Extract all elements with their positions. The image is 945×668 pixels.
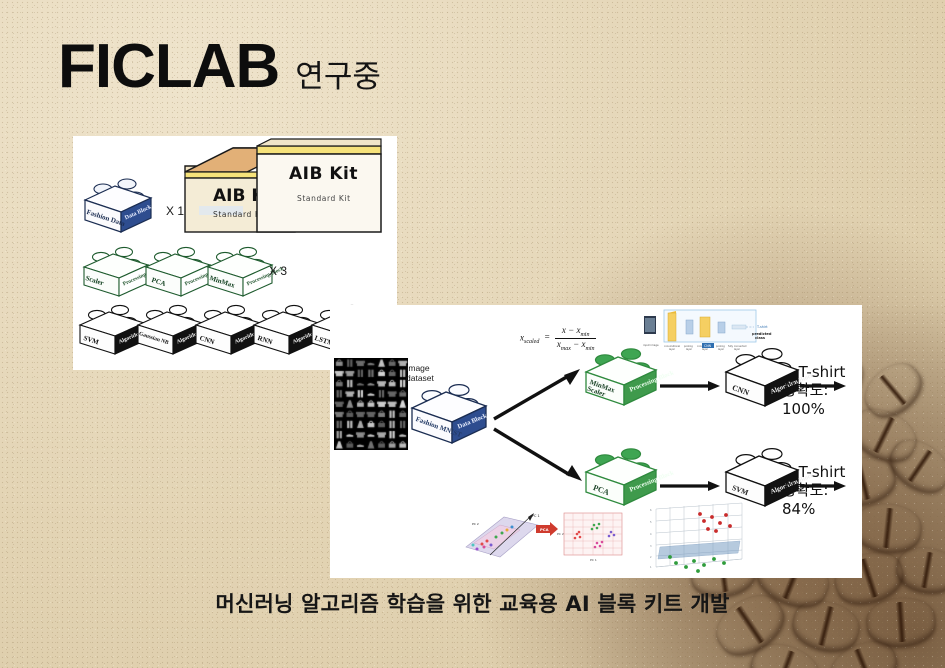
formula-num-sub: min — [580, 332, 589, 338]
formula-den-sub1: max — [561, 346, 571, 352]
fashion-mnist-sample-grid — [334, 358, 408, 450]
lego-processing-block-minmax: MinMax Processing Block — [205, 246, 275, 304]
svm-hyperplane-diagram: 654 321 — [642, 501, 760, 575]
slide-canvas: FICLAB 연구중 AIB K Standard K AIB Kit Stan — [0, 0, 945, 668]
result-accuracy-1: 정확도: 100% — [782, 381, 862, 418]
result-label-1: T-shirt — [782, 363, 862, 381]
svg-text:1: 1 — [650, 566, 652, 569]
result-branch-1: T-shirt 정확도: 100% — [782, 363, 862, 418]
svg-text:PC 2: PC 2 — [472, 522, 479, 526]
arrow-pca-to-svm — [660, 480, 722, 492]
lego-data-block-fashion-data: Fashion Data Data Block — [81, 178, 155, 240]
svg-text:5: 5 — [650, 521, 652, 524]
pca-projection-diagram: PC 1 PC 2 PCA — [458, 505, 638, 567]
formula-num: x − x — [562, 325, 581, 335]
kit-row-count-3: X 3 — [269, 264, 287, 278]
image-dataset-label-line1: Image — [406, 363, 430, 373]
result-label-2: T-shirt — [782, 463, 862, 481]
svg-text:PCA: PCA — [540, 527, 549, 532]
svg-text:layer: layer — [686, 348, 692, 351]
svg-text:class: class — [755, 336, 765, 340]
arrow-data-to-pca — [492, 423, 584, 485]
kit-box-right-title: AIB Kit — [289, 164, 358, 184]
result-branch-2: T-shirt 정확도: 84% — [782, 463, 862, 518]
flow-processing-block-minmax-scaler: MinMax Scaler Processing Block — [582, 348, 660, 412]
svg-text:4: 4 — [650, 533, 652, 536]
svg-text:CNN: CNN — [704, 344, 712, 348]
svg-text:input image: input image — [643, 343, 659, 347]
svg-text:PC 1: PC 1 — [532, 514, 540, 518]
kit-row-count-1: X 1 — [166, 204, 184, 218]
result-accuracy-2: 정확도: 84% — [782, 481, 862, 518]
svg-text:2: 2 — [650, 556, 652, 559]
slide-caption: 머신러닝 알고리즘 학습을 위한 교육용 AI 블록 키트 개발 — [0, 588, 945, 618]
arrow-data-to-minmax — [492, 367, 582, 423]
image-dataset-label-line2: dataset — [406, 373, 434, 383]
lego-processing-block-scaler: Scaler Processing Block — [81, 246, 151, 304]
title-subtitle: 연구중 — [295, 62, 381, 93]
svg-text:6: 6 — [650, 509, 652, 512]
svg-text:PC 1: PC 1 — [590, 558, 597, 562]
svg-text:PC 2: PC 2 — [557, 532, 564, 536]
svg-text:3: 3 — [650, 545, 652, 548]
kit-box-right-subtitle: Standard Kit — [297, 194, 351, 203]
formula-lhs-sub: scaled — [524, 339, 539, 345]
page-title: FICLAB 연구중 — [58, 36, 381, 98]
flow-data-block-fashion-mnist: Fashion MNIST Data Block — [408, 383, 490, 451]
title-main: FICLAB — [58, 36, 279, 98]
aib-kit-box-right: AIB Kit Standard Kit — [253, 136, 385, 236]
lego-processing-block-pca: PCA Processing Block — [143, 246, 213, 304]
svg-text:layer: layer — [669, 348, 675, 351]
arrow-minmax-to-cnn — [660, 380, 722, 392]
svg-text:layer: layer — [702, 348, 708, 351]
svg-text:T-shirt: T-shirt — [756, 325, 768, 329]
pipeline-flow-panel: Image dataset Fashion MNIST Data Block — [330, 305, 862, 578]
